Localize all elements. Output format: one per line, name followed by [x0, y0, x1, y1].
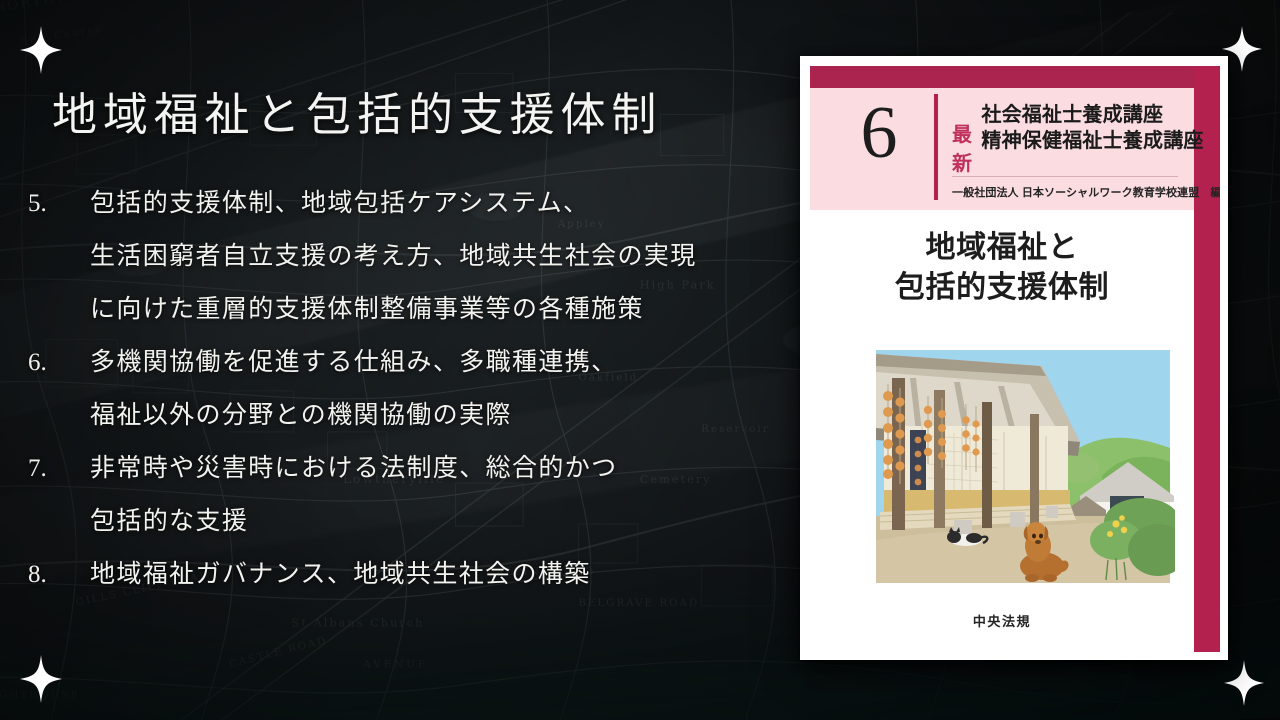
sparkle-icon-bottom-right — [1224, 660, 1264, 706]
bullet-number: 7. — [20, 443, 90, 495]
bullet-line: 包括的支援体制、地域包括ケアシステム、 — [90, 178, 589, 230]
list-item: 6. 多機関協働を促進する仕組み、多職種連携、 — [20, 337, 780, 389]
list-item-continuation: に向けた重層的支援体制整備事業等の各種施策 — [20, 284, 780, 336]
list-item-continuation: 包括的な支援 — [20, 496, 780, 548]
page-title: 地域福祉と包括的支援体制 — [52, 78, 662, 143]
list-item-continuation: 福祉以外の分野との機関協働の実際 — [20, 390, 780, 442]
bullet-line: に向けた重層的支援体制整備事業等の各種施策 — [90, 284, 644, 336]
book-series-line-2: 精神保健福祉士養成講座 — [981, 128, 1203, 154]
sparkle-icon-top-right — [1222, 26, 1262, 72]
book-series-lines: 社会福祉士養成講座 精神保健福祉士養成講座 — [981, 102, 1203, 155]
bullet-number: 8. — [20, 549, 90, 601]
list-item: 8. 地域福祉ガバナンス、地域共生社会の構築 — [20, 549, 780, 601]
book-title-line-2: 包括的支援体制 — [810, 268, 1194, 308]
book-top-bar — [810, 66, 1194, 88]
book-title-line-1: 地域福祉と — [810, 228, 1194, 268]
bullet-line: 非常時や災害時における法制度、総合的かつ — [90, 443, 618, 495]
book-series-line-1: 社会福祉士養成講座 — [981, 102, 1203, 128]
book-cover: 6 最新 社会福祉士養成講座 精神保健福祉士養成講座 一般社団法人 日本ソーシャ… — [800, 56, 1228, 660]
book-cover-illustration — [870, 344, 1176, 589]
bullet-line: 地域福祉ガバナンス、地域共生社会の構築 — [90, 549, 591, 601]
book-editor-divider — [952, 176, 1178, 177]
bullet-line: 生活困窮者自立支援の考え方、地域共生社会の実現 — [90, 231, 697, 283]
bullet-line: 福祉以外の分野との機関協働の実際 — [90, 390, 512, 442]
list-item: 5. 包括的支援体制、地域包括ケアシステム、 — [20, 178, 780, 230]
slide-root: NORTHWOOD PARK Golf Course Lowtheryille … — [0, 0, 1280, 720]
bullet-line: 包括的な支援 — [90, 496, 248, 548]
book-publisher: 中央法規 — [810, 611, 1194, 630]
bullet-list: 5. 包括的支援体制、地域包括ケアシステム、 生活困窮者自立支援の考え方、地域共… — [20, 178, 780, 602]
status-badge: 最新 — [952, 118, 972, 176]
book-editor-line: 一般社団法人 日本ソーシャルワーク教育学校連盟 編集 — [952, 184, 1184, 200]
list-item: 7. 非常時や災害時における法制度、総合的かつ — [20, 443, 780, 495]
book-series-row: 最新 社会福祉士養成講座 精神保健福祉士養成講座 — [952, 102, 1184, 176]
book-header-divider — [934, 94, 938, 200]
bullet-line: 多機関協働を促進する仕組み、多職種連携、 — [90, 337, 618, 389]
bullet-number: 6. — [20, 337, 90, 389]
book-cover-inner: 6 最新 社会福祉士養成講座 精神保健福祉士養成講座 一般社団法人 日本ソーシャ… — [810, 66, 1220, 652]
list-item-continuation: 生活困窮者自立支援の考え方、地域共生社会の実現 — [20, 231, 780, 283]
content-column: 地域福祉と包括的支援体制 5. 包括的支援体制、地域包括ケアシステム、 生活困窮… — [0, 0, 790, 720]
bullet-number: 5. — [20, 178, 90, 230]
book-title: 地域福祉と 包括的支援体制 — [810, 228, 1194, 308]
book-header-panel: 6 最新 社会福祉士養成講座 精神保健福祉士養成講座 一般社団法人 日本ソーシャ… — [810, 88, 1194, 210]
book-volume-number: 6 — [836, 96, 922, 170]
